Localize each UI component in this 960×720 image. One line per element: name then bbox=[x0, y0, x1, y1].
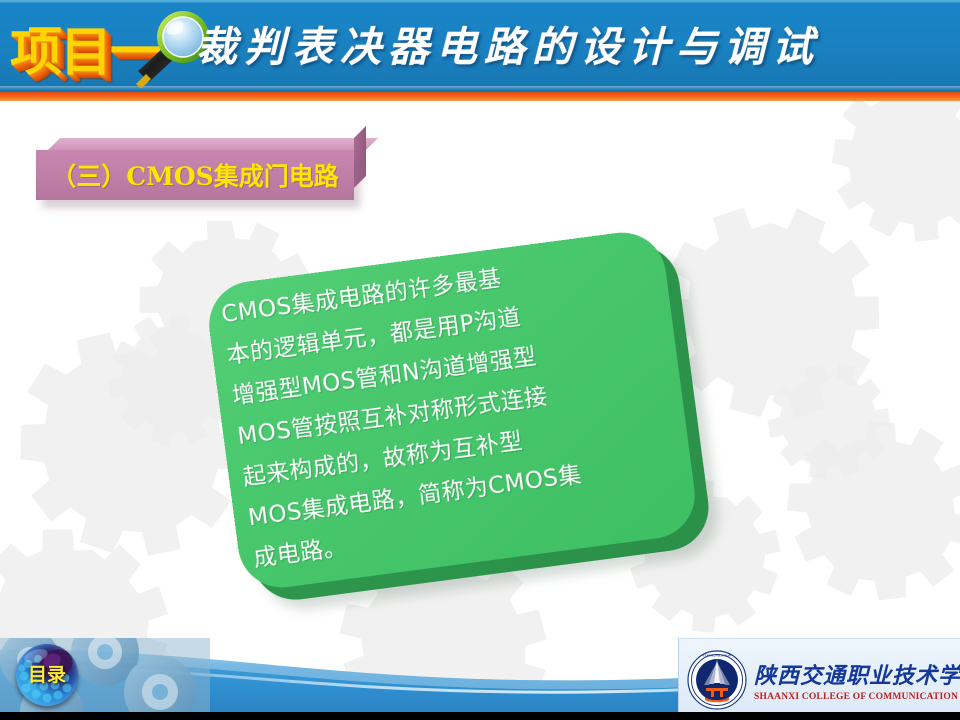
section-heading-block: （三）CMOS集成门电路 bbox=[36, 150, 354, 200]
table-of-contents-button[interactable]: 目录 bbox=[16, 644, 78, 706]
section-heading-side-bevel bbox=[354, 126, 366, 188]
section-heading-label: （三）CMOS集成门电路 bbox=[51, 157, 338, 193]
content-paragraph: CMOS集成电路的许多最基 本的逻辑单元，都是用P沟道 增强型MOS管和N沟道增… bbox=[204, 227, 700, 592]
college-name-en: SHAANXI COLLEGE OF COMMUNICATION TECHNOL… bbox=[754, 692, 960, 702]
slide-header: 项目一 bbox=[0, 0, 960, 92]
content-callout-box: CMOS集成电路的许多最基 本的逻辑单元，都是用P沟道 增强型MOS管和N沟道增… bbox=[204, 227, 700, 592]
toc-button-label: 目录 bbox=[16, 644, 78, 706]
svg-text:COMMUNICATION: COMMUNICATION bbox=[703, 654, 732, 658]
college-emblem-icon: COMMUNICATION bbox=[687, 650, 747, 710]
slide-footer: 目录 COMMUNICATION bbox=[0, 620, 960, 720]
header-top-rule bbox=[0, 0, 960, 3]
college-name-cn: 陕西交通职业技术学院 bbox=[754, 658, 960, 690]
slide-canvas: 项目一 bbox=[0, 0, 960, 720]
header-orange-rule bbox=[0, 92, 960, 101]
college-logo-panel: COMMUNICATION 陕西交通职业技术学院 SHAANXI COLLEGE… bbox=[678, 638, 960, 720]
section-heading-top-bevel bbox=[48, 138, 378, 150]
bottom-black-edge bbox=[0, 712, 960, 720]
page-title: 裁判表决器电路的设计与调试 bbox=[196, 12, 956, 82]
college-logo-texts: 陕西交通职业技术学院 SHAANXI COLLEGE OF COMMUNICAT… bbox=[754, 658, 960, 702]
section-heading-face: （三）CMOS集成门电路 bbox=[36, 150, 354, 200]
